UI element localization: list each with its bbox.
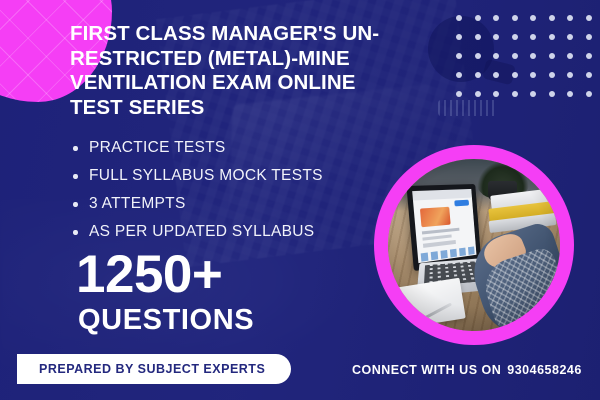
grid-dot	[586, 91, 592, 97]
grid-dot	[586, 72, 592, 78]
grid-dot	[530, 15, 536, 21]
prepared-by-experts-badge: PREPARED BY SUBJECT EXPERTS	[17, 354, 291, 384]
grid-dot	[493, 53, 499, 59]
grid-dot	[475, 91, 481, 97]
banner-headline: FIRST CLASS MANAGER'S UN-RESTRICTED (MET…	[70, 22, 400, 120]
grid-dot	[493, 91, 499, 97]
feature-list: PRACTICE TESTS FULL SYLLABUS MOCK TESTS …	[70, 134, 390, 246]
grid-dot	[586, 34, 592, 40]
grid-dot	[475, 53, 481, 59]
grid-dot	[493, 15, 499, 21]
grid-dot	[512, 34, 518, 40]
grid-dot	[549, 91, 555, 97]
grid-dot	[475, 72, 481, 78]
grid-dot	[456, 15, 462, 21]
grid-dot	[475, 34, 481, 40]
grid-dot	[567, 53, 573, 59]
contact-line: CONNECT WITH US ON9304658246	[352, 363, 582, 377]
grid-dot	[549, 15, 555, 21]
grid-dot	[456, 34, 462, 40]
grid-dot	[530, 91, 536, 97]
grid-dot	[530, 34, 536, 40]
feature-item: AS PER UPDATED SYLLABUS	[70, 218, 390, 246]
feature-item: FULL SYLLABUS MOCK TESTS	[70, 162, 390, 190]
feature-item: 3 ATTEMPTS	[70, 190, 390, 218]
grid-dot	[530, 72, 536, 78]
grid-dot	[512, 15, 518, 21]
grid-dot	[456, 53, 462, 59]
grid-dot	[567, 15, 573, 21]
grid-dot	[456, 72, 462, 78]
grid-dot	[475, 15, 481, 21]
feature-item: PRACTICE TESTS	[70, 134, 390, 162]
grid-dot	[512, 53, 518, 59]
dot-grid-decoration	[450, 8, 598, 104]
grid-dot	[586, 15, 592, 21]
grid-dot	[530, 53, 536, 59]
grid-dot	[456, 91, 462, 97]
grid-dot	[549, 72, 555, 78]
contact-phone-number[interactable]: 9304658246	[507, 363, 582, 377]
contact-prefix: CONNECT WITH US ON	[352, 363, 501, 377]
grid-dot	[567, 34, 573, 40]
grid-dot	[493, 34, 499, 40]
question-count-number: 1250+	[76, 248, 222, 301]
laptop-photo-circle	[374, 145, 574, 345]
photo-vignette	[388, 159, 560, 331]
grid-dot	[512, 72, 518, 78]
grid-dot	[586, 53, 592, 59]
grid-dot	[512, 91, 518, 97]
grid-dot	[567, 72, 573, 78]
grid-dot	[493, 72, 499, 78]
promo-banner: FIRST CLASS MANAGER'S UN-RESTRICTED (MET…	[0, 0, 600, 400]
question-count-label: QUESTIONS	[78, 305, 254, 335]
grid-dot	[549, 53, 555, 59]
laptop-photo	[388, 159, 560, 331]
grid-dot	[567, 91, 573, 97]
grid-dot	[549, 34, 555, 40]
